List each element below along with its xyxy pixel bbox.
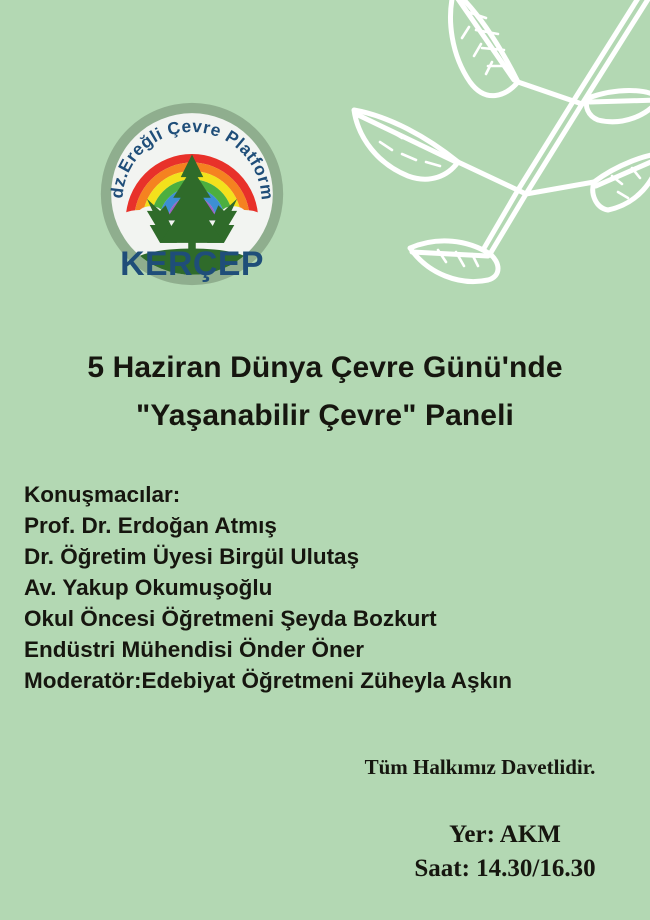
speaker-item: Okul Öncesi Öğretmeni Şeyda Bozkurt: [24, 603, 584, 634]
leaf-branch-icon: [350, 0, 650, 286]
poster-canvas: Kdz.Ereğli Çevre Platformu KERÇEP 5 Hazi…: [0, 0, 650, 920]
title-line-2: "Yaşanabilir Çevre" Paneli: [0, 392, 650, 440]
speaker-item-moderator: Moderatör:Edebiyat Öğretmeni Züheyla Aşk…: [24, 665, 584, 696]
time-text: Saat: 14.30/16.30: [365, 852, 645, 886]
venue-text: Yer: AKM: [365, 818, 645, 852]
poster-title: 5 Haziran Dünya Çevre Günü'nde "Yaşanabi…: [0, 344, 650, 440]
venue-section: Yer: AKM Saat: 14.30/16.30: [365, 818, 645, 886]
speakers-section: Konuşmacılar: Prof. Dr. Erdoğan Atmış Dr…: [24, 479, 584, 696]
logo-wordmark: KERÇEP: [120, 245, 264, 283]
kercep-logo: Kdz.Ereğli Çevre Platformu KERÇEP: [98, 100, 286, 288]
speaker-item: Prof. Dr. Erdoğan Atmış: [24, 510, 584, 541]
speaker-item: Av. Yakup Okumuşoğlu: [24, 572, 584, 603]
invitation-text: Tüm Halkımız Davetlidir.: [340, 755, 620, 780]
speakers-heading: Konuşmacılar:: [24, 479, 584, 510]
title-line-1: 5 Haziran Dünya Çevre Günü'nde: [0, 344, 650, 392]
speaker-item: Dr. Öğretim Üyesi Birgül Ulutaş: [24, 541, 584, 572]
speaker-item: Endüstri Mühendisi Önder Öner: [24, 634, 584, 665]
